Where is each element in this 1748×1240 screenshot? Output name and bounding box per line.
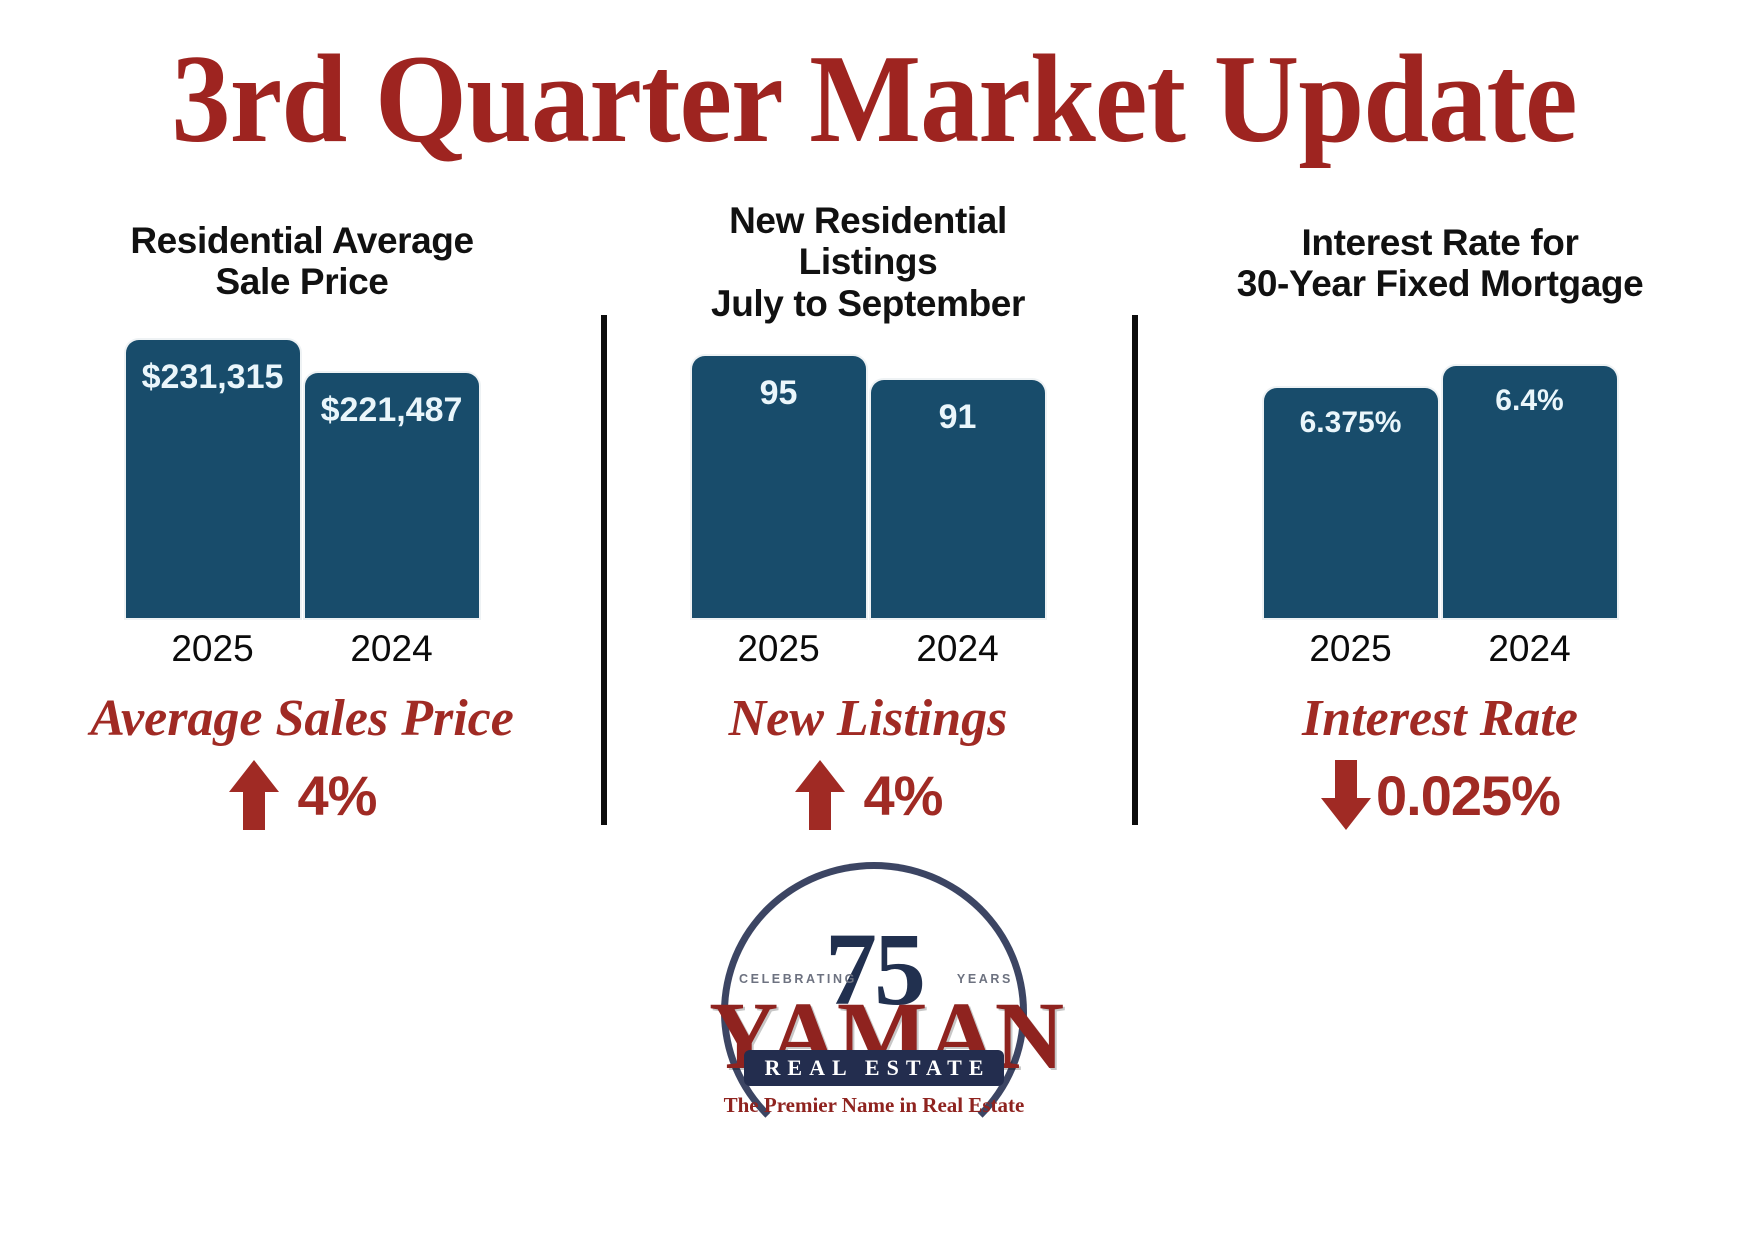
chart-caption-interest-rate: Interest Rate (1132, 689, 1748, 748)
bar-value-2025: $231,315 (142, 358, 284, 618)
chart-title-new-listings: New Residential Listings July to Septemb… (604, 200, 1132, 324)
brand-tagline: The Premier Name in Real Estate (709, 1093, 1039, 1118)
chart-title-line-1: New Residential (604, 200, 1132, 241)
chart-panel-new-listings: New Residential Listings July to Septemb… (604, 200, 1132, 840)
bar-value-2024: $221,487 (321, 391, 463, 618)
bar-group-interest-rate: 6.375% 6.4% (1132, 318, 1748, 618)
chart-title-interest-rate: Interest Rate for 30-Year Fixed Mortgage (1132, 200, 1748, 305)
bar-2025: 6.375% (1264, 388, 1438, 618)
year-label-2024: 2024 (305, 628, 479, 670)
page-title: 3rd Quarter Market Update (52, 34, 1695, 166)
bar-value-2025: 95 (760, 374, 798, 618)
bar-value-2024: 91 (939, 398, 977, 618)
bar-column-2025: $231,315 (126, 340, 300, 618)
company-logo: 75 CELEBRATING YEARS YAMAN REAL ESTATE T… (709, 862, 1039, 1234)
charts-row: Residential Average Sale Price $231,315 … (0, 200, 1748, 840)
arrow-up-icon (794, 758, 846, 832)
chart-title-line-1: Residential Average (0, 220, 604, 261)
bar-2024: 6.4% (1443, 366, 1617, 618)
year-label-2024: 2024 (871, 628, 1045, 670)
bar-value-2025: 6.375% (1300, 406, 1402, 618)
chart-title-line-2: Listings (604, 241, 1132, 282)
bar-column-2024: 91 (871, 380, 1045, 618)
bar-group-average-sale-price: $231,315 $221,487 (0, 318, 604, 618)
chart-title-line-2: 30-Year Fixed Mortgage (1132, 263, 1748, 304)
brand-subtitle: REAL ESTATE (744, 1050, 1004, 1086)
bar-group-new-listings: 95 91 (604, 318, 1132, 618)
arrow-down-icon (1320, 758, 1372, 832)
bar-2025: $231,315 (126, 340, 300, 618)
year-label-2025: 2025 (126, 628, 300, 670)
chart-caption-average-sale-price: Average Sales Price (0, 689, 604, 748)
bar-value-2024: 6.4% (1495, 384, 1563, 618)
year-label-2024: 2024 (1443, 628, 1617, 670)
year-labels-interest-rate: 2025 2024 (1132, 628, 1748, 670)
bar-column-2024: 6.4% (1443, 366, 1617, 618)
year-label-2025: 2025 (692, 628, 866, 670)
delta-new-listings: 4% (604, 758, 1132, 832)
delta-value-average-sale-price: 4% (298, 763, 377, 828)
chart-title-line-2: Sale Price (0, 261, 604, 302)
delta-value-interest-rate: 0.025% (1376, 763, 1560, 828)
year-label-2025: 2025 (1264, 628, 1438, 670)
chart-panel-interest-rate: Interest Rate for 30-Year Fixed Mortgage… (1132, 200, 1748, 840)
bar-2024: 91 (871, 380, 1045, 618)
delta-interest-rate: 0.025% (1132, 758, 1748, 832)
bar-2025: 95 (692, 356, 866, 618)
chart-caption-new-listings: New Listings (604, 689, 1132, 748)
chart-panel-average-sale-price: Residential Average Sale Price $231,315 … (0, 200, 604, 840)
delta-average-sale-price: 4% (0, 758, 604, 832)
chart-title-line-1: Interest Rate for (1132, 222, 1748, 263)
arrow-up-icon (228, 758, 280, 832)
bar-2024: $221,487 (305, 373, 479, 618)
year-labels-new-listings: 2025 2024 (604, 628, 1132, 670)
bar-column-2024: $221,487 (305, 373, 479, 618)
bar-column-2025: 6.375% (1264, 388, 1438, 618)
delta-value-new-listings: 4% (864, 763, 943, 828)
year-labels-average-sale-price: 2025 2024 (0, 628, 604, 670)
bar-column-2025: 95 (692, 356, 866, 618)
chart-title-average-sale-price: Residential Average Sale Price (0, 200, 604, 303)
